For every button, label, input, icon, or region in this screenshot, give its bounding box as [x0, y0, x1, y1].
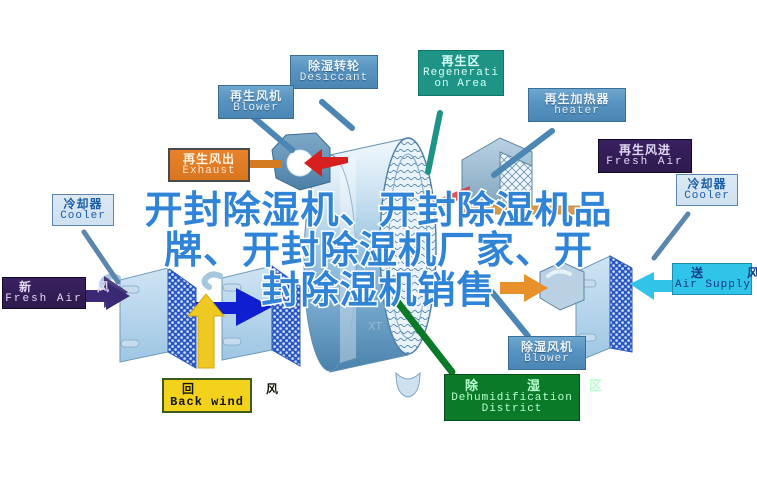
label-back-wind: 回 风 Back wind: [162, 378, 252, 413]
dehumidifier-diagram: XT: [0, 0, 757, 488]
label-regeneration-heater-en: heater: [531, 106, 623, 118]
label-desiccant-cn: 除湿转轮: [293, 60, 375, 73]
label-dehumidification-district-cn: 除 湿 区: [447, 379, 577, 393]
label-exhaust-en: Exhaust: [172, 166, 246, 178]
label-exhaust-cn: 再生风出: [172, 153, 246, 166]
label-dehumidification-blower-en: Blower: [511, 354, 583, 366]
label-back-wind-en: Back wind: [166, 396, 248, 409]
label-regeneration-area: 再生区 Regenerati on Area: [418, 50, 504, 96]
label-regeneration-inlet: 再生风进 Fresh Air: [598, 139, 692, 173]
label-regeneration-area-cn: 再生区: [421, 55, 501, 68]
label-dehumidification-district: 除 湿 区 Dehumidification District: [444, 374, 580, 421]
label-back-wind-cn: 回 风: [166, 383, 248, 396]
label-regeneration-heater: 再生加热器 heater: [528, 88, 626, 122]
watermark-line-3: 封除湿机销售: [0, 270, 757, 310]
label-dehumidification-blower-cn: 除湿风机: [511, 341, 583, 354]
label-desiccant: 除湿转轮 Desiccant: [290, 55, 378, 89]
label-regeneration-area-en2: on Area: [421, 79, 501, 91]
label-regeneration-inlet-cn: 再生风进: [601, 144, 689, 157]
svg-text:XT: XT: [368, 320, 382, 333]
watermark-line-1: 开封除湿机、开封除湿机品: [0, 190, 757, 230]
label-regeneration-heater-cn: 再生加热器: [531, 93, 623, 106]
label-cooler-right-cn: 冷却器: [679, 178, 735, 191]
label-regeneration-blower-en: Blower: [221, 103, 291, 115]
label-regeneration-blower: 再生风机 Blower: [218, 85, 294, 119]
label-dehumidification-district-en2: District: [447, 404, 577, 416]
label-regeneration-blower-cn: 再生风机: [221, 90, 291, 103]
watermark-text: 开封除湿机、开封除湿机品 牌、开封除湿机厂家、开 封除湿机销售: [0, 190, 757, 310]
watermark-line-2: 牌、开封除湿机厂家、开: [0, 230, 757, 270]
label-dehumidification-blower: 除湿风机 Blower: [508, 336, 586, 370]
label-desiccant-en: Desiccant: [293, 73, 375, 85]
label-exhaust: 再生风出 Exhaust: [168, 148, 250, 182]
label-regeneration-inlet-en: Fresh Air: [601, 157, 689, 169]
